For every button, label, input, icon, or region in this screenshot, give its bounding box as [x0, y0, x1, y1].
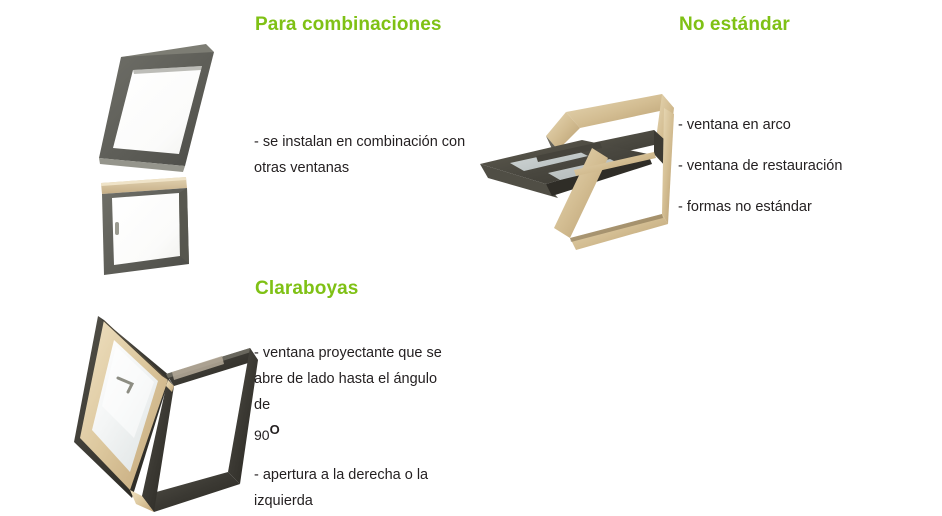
degree-symbol: O [270, 422, 280, 437]
slide-canvas: Para combinaciones - se instalan en comb… [0, 0, 942, 516]
angle-number: 90 [254, 427, 270, 443]
combination-windows-photo [88, 30, 228, 275]
heading-no-estandar: No estándar [679, 14, 790, 36]
angle-value-line: 90O [254, 422, 454, 449]
bullets-claraboyas: - ventana proyectante que se abre de lad… [254, 340, 454, 514]
heading-para-combinaciones: Para combinaciones [255, 14, 442, 36]
bullet-item: - se instalan en combinación con otras v… [254, 129, 486, 181]
bullet-item: - ventana proyectante que se abre de lad… [254, 340, 454, 418]
bullet-item: - ventana de restauración [678, 153, 878, 179]
bullet-item: - ventana en arco [678, 112, 878, 138]
non-standard-window-photo [462, 78, 677, 253]
bullet-item: - formas no estándar [678, 194, 878, 220]
upper-sash [99, 44, 214, 172]
bullet-item: - apertura a la derecha o la izquierda [254, 462, 454, 514]
skylight-window-photo [72, 288, 272, 516]
bullets-no-estandar: - ventana en arco - ventana de restaurac… [678, 112, 878, 220]
bullets-para-combinaciones: - se instalan en combinación con otras v… [254, 129, 486, 181]
heading-claraboyas: Claraboyas [255, 278, 358, 300]
lower-sash [101, 177, 189, 275]
